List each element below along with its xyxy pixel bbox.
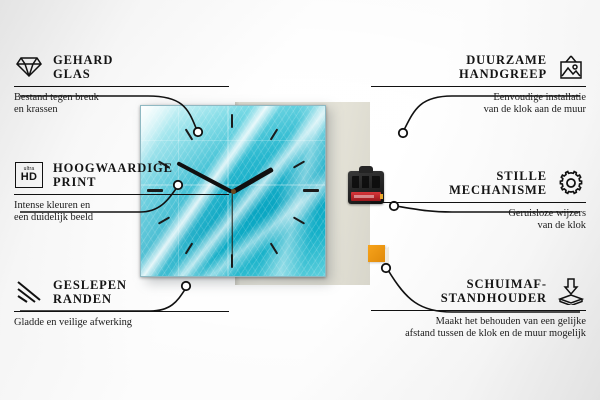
feature-title: DUURZAME HANDGREEP — [459, 53, 547, 82]
press-down-icon — [556, 276, 586, 306]
leader-endpoint-dot — [399, 129, 407, 137]
feature-title: STILLE MECHANISME — [449, 169, 547, 198]
diagonal-lines-icon — [14, 277, 44, 307]
feature-title: HOOGWAARDIGE PRINT — [53, 161, 173, 190]
divider — [14, 194, 229, 195]
divider — [371, 202, 586, 203]
feature-duurzame-handgreep[interactable]: DUURZAME HANDGREEP Eenvoudige installati… — [371, 52, 586, 117]
feature-description: Maakt het behouden van een gelijke afsta… — [371, 316, 586, 341]
feature-stille-mechanisme[interactable]: STILLE MECHANISME Geruisloze wijzers van… — [371, 168, 586, 233]
second-hand — [231, 192, 232, 260]
divider — [14, 311, 229, 312]
feature-title: GEHARD GLAS — [53, 53, 113, 82]
divider — [14, 86, 229, 87]
ultra-hd-icon: ultra HD — [14, 160, 44, 190]
divider — [371, 86, 586, 87]
divider — [371, 310, 586, 311]
feature-title: SCHUIMAF- STANDHOUDER — [441, 277, 547, 306]
feature-title: GESLEPEN RANDEN — [53, 278, 127, 307]
foam-spacer-pad — [368, 245, 385, 262]
feature-description: Gladde en veilige afwerking — [14, 317, 229, 329]
feature-gehard-glas[interactable]: GEHARD GLAS Bestand tegen breuk en krass… — [14, 52, 229, 117]
feature-geslepen-randen[interactable]: GESLEPEN RANDEN Gladde en veilige afwerk… — [14, 277, 229, 329]
gear-icon — [556, 168, 586, 198]
clock-hub — [231, 189, 236, 194]
infographic-canvas: GEHARD GLAS Bestand tegen breuk en krass… — [0, 0, 600, 400]
feature-description: Geruisloze wijzers van de klok — [371, 208, 586, 233]
feature-description: Eenvoudige installatie van de klok aan d… — [371, 92, 586, 117]
picture-frame-icon — [556, 52, 586, 82]
feature-schuimaf-standhouder[interactable]: SCHUIMAF- STANDHOUDER Maakt het behouden… — [371, 276, 586, 341]
feature-description: Bestand tegen breuk en krassen — [14, 92, 229, 117]
diamond-icon — [14, 52, 44, 82]
feature-hoogwaardige-print[interactable]: ultra HD HOOGWAARDIGE PRINT Intense kleu… — [14, 160, 229, 225]
feature-description: Intense kleuren en een duidelijk beeld — [14, 200, 229, 225]
